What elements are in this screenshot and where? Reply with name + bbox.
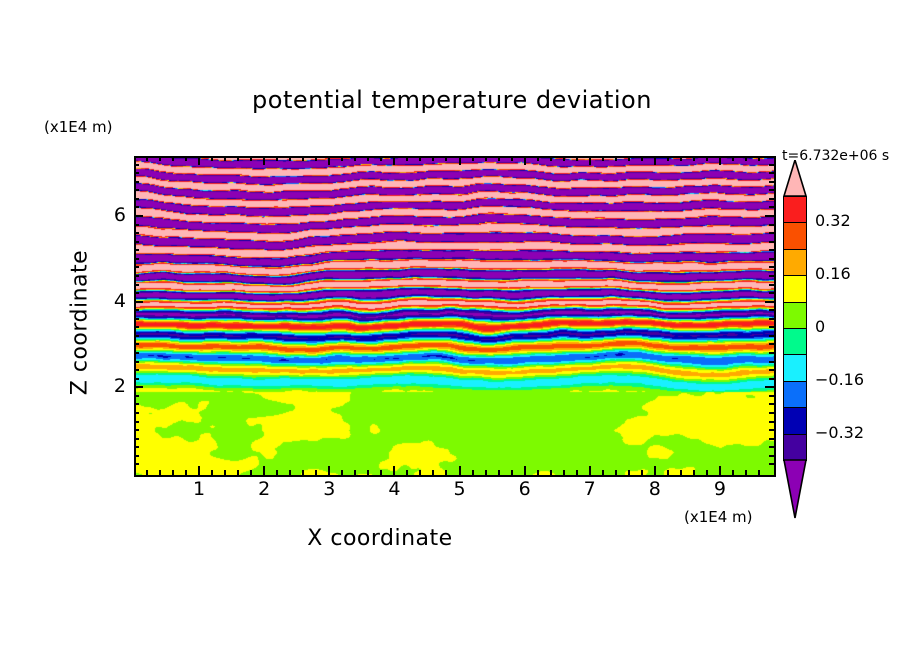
- y-tick-right: [769, 275, 774, 277]
- y-tick: [134, 369, 139, 371]
- x-tick: [198, 466, 200, 475]
- y-tick-right: [769, 343, 774, 345]
- x-tick-top: [745, 156, 747, 161]
- x-axis-unit-label: (x1E4 m): [684, 508, 753, 526]
- x-tick: [563, 470, 565, 475]
- x-tick-top: [732, 156, 734, 161]
- y-tick-label: 6: [96, 204, 126, 226]
- x-tick-top: [680, 156, 682, 161]
- y-tick-right: [769, 421, 774, 423]
- x-tick: [745, 470, 747, 475]
- colorbar-band: [783, 249, 807, 277]
- y-tick-right: [765, 301, 774, 303]
- y-tick: [134, 326, 139, 328]
- x-tick-label: 5: [445, 478, 475, 500]
- y-tick: [134, 421, 139, 423]
- x-tick-top: [563, 156, 565, 161]
- y-tick: [134, 463, 139, 465]
- y-tick: [134, 412, 139, 414]
- y-tick-right: [769, 206, 774, 208]
- colorbar-band: [783, 434, 807, 462]
- x-tick: [641, 470, 643, 475]
- y-tick-right: [769, 455, 774, 457]
- x-tick: [667, 470, 669, 475]
- x-tick-top: [146, 156, 148, 161]
- x-tick-top: [354, 156, 356, 161]
- y-tick: [134, 198, 139, 200]
- x-tick-top: [615, 156, 617, 161]
- x-tick-top: [667, 156, 669, 161]
- x-tick-top: [485, 156, 487, 161]
- y-tick-right: [769, 369, 774, 371]
- y-tick: [134, 224, 139, 226]
- temperature-deviation-field: [136, 158, 774, 475]
- y-tick: [134, 395, 139, 397]
- x-tick-label: 7: [575, 478, 605, 500]
- y-tick: [134, 232, 139, 234]
- colorbar-tick-label: −0.16: [815, 370, 864, 389]
- x-tick-label: 2: [249, 478, 279, 500]
- y-tick: [134, 164, 139, 166]
- y-tick-right: [769, 284, 774, 286]
- x-tick-top: [628, 156, 630, 161]
- y-tick: [134, 172, 139, 174]
- x-tick: [459, 466, 461, 475]
- x-tick-label: 3: [314, 478, 344, 500]
- x-tick: [419, 470, 421, 475]
- colorbar-top-arrow: [783, 160, 807, 197]
- x-tick: [706, 470, 708, 475]
- y-tick-label: 4: [96, 290, 126, 312]
- y-tick: [134, 403, 139, 405]
- y-tick-right: [769, 403, 774, 405]
- x-tick: [172, 470, 174, 475]
- contour-plot-area: [134, 156, 776, 477]
- x-tick: [315, 470, 317, 475]
- y-tick: [134, 378, 139, 380]
- x-tick-top: [419, 156, 421, 161]
- x-tick-label: 6: [510, 478, 540, 500]
- x-tick: [211, 470, 213, 475]
- x-tick-top: [302, 156, 304, 161]
- x-tick-top: [289, 156, 291, 161]
- x-tick: [250, 470, 252, 475]
- y-tick-right: [769, 189, 774, 191]
- x-tick: [498, 470, 500, 475]
- x-tick: [589, 466, 591, 475]
- x-tick: [393, 466, 395, 475]
- colorbar: [783, 196, 807, 460]
- x-tick: [328, 466, 330, 475]
- x-tick: [680, 470, 682, 475]
- y-tick: [134, 181, 139, 183]
- x-tick-top: [693, 156, 695, 161]
- x-tick: [159, 470, 161, 475]
- x-tick-label: 4: [379, 478, 409, 500]
- y-tick-right: [769, 266, 774, 268]
- page-title: potential temperature deviation: [0, 86, 904, 114]
- y-tick: [134, 215, 143, 217]
- y-tick: [134, 275, 139, 277]
- y-tick-right: [769, 446, 774, 448]
- x-tick-top: [172, 156, 174, 161]
- x-tick: [576, 470, 578, 475]
- y-tick-right: [769, 258, 774, 260]
- x-tick-top: [498, 156, 500, 161]
- x-tick: [719, 466, 721, 475]
- x-tick: [224, 470, 226, 475]
- colorbar-band: [783, 381, 807, 409]
- y-tick-right: [769, 395, 774, 397]
- x-tick: [511, 470, 513, 475]
- x-tick: [654, 466, 656, 475]
- y-tick-right: [769, 429, 774, 431]
- y-tick-right: [769, 172, 774, 174]
- x-tick-top: [315, 156, 317, 161]
- x-tick-top: [432, 156, 434, 161]
- x-tick-label: 8: [640, 478, 670, 500]
- x-tick-top: [224, 156, 226, 161]
- y-tick: [134, 189, 139, 191]
- x-tick-top: [459, 156, 461, 165]
- y-tick: [134, 301, 143, 303]
- x-tick-top: [393, 156, 395, 165]
- y-tick-label: 2: [96, 375, 126, 397]
- colorbar-bottom-arrow: [783, 459, 807, 519]
- colorbar-band: [783, 328, 807, 356]
- x-tick-top: [641, 156, 643, 161]
- colorbar-tick-label: 0.32: [815, 211, 851, 230]
- y-tick: [134, 206, 139, 208]
- x-tick-top: [367, 156, 369, 161]
- x-tick: [537, 470, 539, 475]
- x-axis-title: X coordinate: [0, 526, 760, 551]
- x-tick-label: 9: [705, 478, 735, 500]
- x-tick-top: [589, 156, 591, 165]
- x-tick: [432, 470, 434, 475]
- y-tick: [134, 446, 139, 448]
- y-tick: [134, 361, 139, 363]
- y-tick-right: [769, 232, 774, 234]
- y-tick-right: [769, 309, 774, 311]
- x-tick: [354, 470, 356, 475]
- x-tick-top: [719, 156, 721, 165]
- y-tick-right: [765, 386, 774, 388]
- colorbar-tick-label: 0.16: [815, 264, 851, 283]
- y-tick: [134, 249, 139, 251]
- y-tick-right: [769, 198, 774, 200]
- x-tick-top: [276, 156, 278, 161]
- y-tick: [134, 386, 143, 388]
- y-tick-right: [765, 215, 774, 217]
- x-tick-top: [654, 156, 656, 165]
- x-tick-top: [185, 156, 187, 161]
- x-tick: [732, 470, 734, 475]
- y-tick-right: [769, 378, 774, 380]
- x-tick-label: 1: [184, 478, 214, 500]
- x-tick-top: [341, 156, 343, 161]
- colorbar-tick-label: 0: [815, 317, 825, 336]
- x-tick: [628, 470, 630, 475]
- y-tick: [134, 438, 139, 440]
- x-tick-top: [380, 156, 382, 161]
- y-tick: [134, 241, 139, 243]
- y-tick: [134, 292, 139, 294]
- x-tick: [445, 470, 447, 475]
- y-tick-right: [769, 292, 774, 294]
- y-tick-right: [769, 318, 774, 320]
- x-tick: [276, 470, 278, 475]
- colorbar-band: [783, 302, 807, 330]
- x-tick-top: [328, 156, 330, 165]
- y-tick-right: [769, 463, 774, 465]
- y-tick-right: [769, 361, 774, 363]
- y-axis-title: Z coordinate: [68, 223, 93, 423]
- colorbar-tick-label: −0.32: [815, 423, 864, 442]
- x-tick: [263, 466, 265, 475]
- x-tick-top: [263, 156, 265, 165]
- y-tick-right: [769, 412, 774, 414]
- y-tick-right: [769, 438, 774, 440]
- y-tick: [134, 266, 139, 268]
- x-tick-top: [237, 156, 239, 161]
- y-tick: [134, 258, 139, 260]
- y-tick-right: [769, 335, 774, 337]
- x-tick: [485, 470, 487, 475]
- y-tick: [134, 309, 139, 311]
- y-axis-unit-label: (x1E4 m): [44, 118, 113, 136]
- x-tick: [693, 470, 695, 475]
- x-tick-top: [602, 156, 604, 161]
- x-tick: [367, 470, 369, 475]
- y-tick-right: [769, 164, 774, 166]
- colorbar-band: [783, 275, 807, 303]
- y-tick: [134, 335, 139, 337]
- y-tick-right: [769, 181, 774, 183]
- y-tick: [134, 455, 139, 457]
- x-tick-top: [159, 156, 161, 161]
- x-tick-top: [511, 156, 513, 161]
- y-tick-right: [769, 249, 774, 251]
- x-tick: [550, 470, 552, 475]
- x-tick: [615, 470, 617, 475]
- y-tick-right: [769, 326, 774, 328]
- x-tick-top: [445, 156, 447, 161]
- x-tick-top: [706, 156, 708, 161]
- x-tick-top: [472, 156, 474, 161]
- x-tick: [146, 470, 148, 475]
- x-tick-top: [524, 156, 526, 165]
- x-tick: [602, 470, 604, 475]
- y-tick: [134, 318, 139, 320]
- x-tick-top: [211, 156, 213, 161]
- x-tick: [289, 470, 291, 475]
- x-tick: [380, 470, 382, 475]
- x-tick: [341, 470, 343, 475]
- x-tick: [237, 470, 239, 475]
- colorbar-band: [783, 196, 807, 224]
- x-tick: [406, 470, 408, 475]
- x-tick-top: [198, 156, 200, 165]
- y-tick: [134, 343, 139, 345]
- x-tick-top: [576, 156, 578, 161]
- colorbar-band: [783, 222, 807, 250]
- x-tick-top: [250, 156, 252, 161]
- y-tick: [134, 429, 139, 431]
- colorbar-band: [783, 354, 807, 382]
- x-tick: [472, 470, 474, 475]
- x-tick: [185, 470, 187, 475]
- y-tick-right: [769, 224, 774, 226]
- colorbar-band: [783, 407, 807, 435]
- x-tick: [758, 470, 760, 475]
- figure-canvas: potential temperature deviation (x1E4 m)…: [0, 0, 904, 654]
- x-tick-top: [537, 156, 539, 161]
- x-tick-top: [406, 156, 408, 161]
- x-tick-top: [758, 156, 760, 161]
- x-tick: [524, 466, 526, 475]
- y-tick: [134, 352, 139, 354]
- x-tick-top: [550, 156, 552, 161]
- y-tick: [134, 284, 139, 286]
- y-tick-right: [769, 241, 774, 243]
- y-tick-right: [769, 352, 774, 354]
- x-tick: [302, 470, 304, 475]
